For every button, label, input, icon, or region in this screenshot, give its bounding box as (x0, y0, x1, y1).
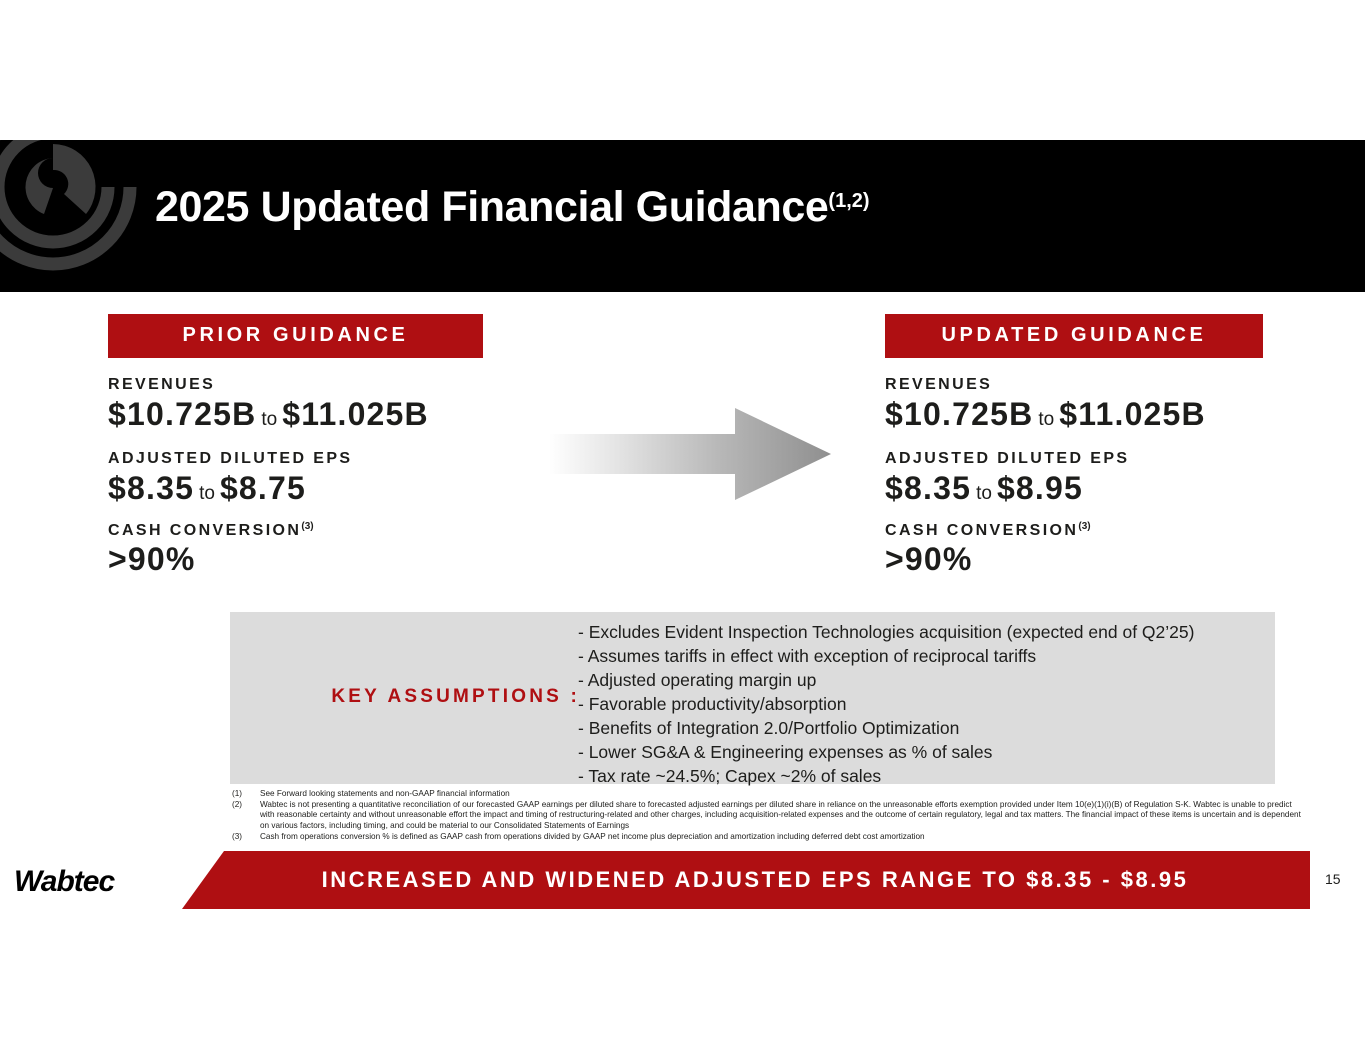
metric-value-high: $8.75 (220, 470, 306, 506)
prior-guidance-heading: PRIOR GUIDANCE (108, 314, 483, 358)
list-item: - Tax rate ~24.5%; Capex ~2% of sales (578, 764, 1268, 788)
wabtec-logo: Wabtec (12, 862, 162, 900)
metric-cash-conversion-prior: CASH CONVERSION(3) >90% (108, 521, 538, 578)
metric-adjusted-diluted-eps-prior: ADJUSTED DILUTED EPS $8.35to$8.75 (108, 450, 538, 506)
footnote-text: Cash from operations conversion % is def… (260, 832, 1307, 843)
metric-label-text: CASH CONVERSION (108, 522, 301, 539)
metric-revenues-prior: REVENUES $10.725Bto$11.025B (108, 376, 538, 432)
page-number: 15 (1325, 871, 1341, 887)
metric-value-low: $10.725B (108, 396, 256, 432)
wabtec-swirl-mark-icon (0, 140, 148, 282)
prior-guidance-column: PRIOR GUIDANCE REVENUES $10.725Bto$11.02… (108, 314, 538, 578)
footnote-number: (1) (232, 789, 260, 800)
metric-connector: to (256, 409, 282, 430)
page-title: 2025 Updated Financial Guidance(1,2) (155, 186, 870, 229)
footnote-number: (2) (232, 800, 260, 832)
key-assumptions-label: KEY ASSUMPTIONS : (250, 686, 580, 708)
metric-cash-conversion-updated: CASH CONVERSION(3) >90% (885, 521, 1315, 578)
metric-value-high: $11.025B (282, 396, 429, 432)
list-item: - Adjusted operating margin up (578, 668, 1268, 692)
metric-label-text: CASH CONVERSION (885, 522, 1078, 539)
metric-label: ADJUSTED DILUTED EPS (885, 450, 1315, 468)
footnote-3: (3) Cash from operations conversion % is… (232, 832, 1307, 843)
metric-value: $10.725Bto$11.025B (885, 396, 1315, 433)
footnote-number: (3) (232, 832, 260, 843)
metric-value: $8.35to$8.75 (108, 470, 538, 507)
updated-guidance-column: UPDATED GUIDANCE REVENUES $10.725Bto$11.… (885, 314, 1315, 578)
metric-label: REVENUES (885, 376, 1315, 394)
list-item: - Favorable productivity/absorption (578, 692, 1268, 716)
footnotes: (1) See Forward looking statements and n… (232, 789, 1307, 843)
key-assumptions-list: - Excludes Evident Inspection Technologi… (578, 620, 1268, 788)
transition-arrow (549, 408, 831, 500)
metric-label-footnote: (3) (301, 521, 313, 532)
metric-value-high: $11.025B (1059, 396, 1206, 432)
metric-label: ADJUSTED DILUTED EPS (108, 450, 538, 468)
metric-label: CASH CONVERSION(3) (108, 521, 538, 540)
footnote-text: Wabtec is not presenting a quantitative … (260, 800, 1307, 832)
metric-value-low: >90% (108, 541, 196, 577)
wabtec-logo-text: Wabtec (14, 865, 115, 898)
list-item: - Excludes Evident Inspection Technologi… (578, 620, 1268, 644)
page-title-text: 2025 Updated Financial Guidance (155, 183, 828, 231)
metric-connector: to (194, 483, 220, 504)
metric-value: $8.35to$8.95 (885, 470, 1315, 507)
list-item: - Benefits of Integration 2.0/Portfolio … (578, 716, 1268, 740)
page-title-superscript: (1,2) (828, 190, 869, 212)
right-arrow-gradient-icon (549, 408, 831, 500)
metric-label: REVENUES (108, 376, 538, 394)
key-assumptions-panel: KEY ASSUMPTIONS : - Excludes Evident Ins… (230, 612, 1275, 784)
metric-value-low: $8.35 (108, 470, 194, 506)
metric-value-low: >90% (885, 541, 973, 577)
metric-value: $10.725Bto$11.025B (108, 396, 538, 433)
metric-revenues-updated: REVENUES $10.725Bto$11.025B (885, 376, 1315, 432)
metric-value-high: $8.95 (997, 470, 1083, 506)
metric-value-low: $10.725B (885, 396, 1033, 432)
updated-guidance-heading: UPDATED GUIDANCE (885, 314, 1263, 358)
metric-connector: to (1033, 409, 1059, 430)
metric-connector: to (971, 483, 997, 504)
metric-value: >90% (108, 541, 538, 578)
bottom-banner-text: INCREASED AND WIDENED ADJUSTED EPS RANGE… (182, 851, 1310, 909)
list-item: - Assumes tariffs in effect with excepti… (578, 644, 1268, 668)
list-item: - Lower SG&A & Engineering expenses as %… (578, 740, 1268, 764)
metric-adjusted-diluted-eps-updated: ADJUSTED DILUTED EPS $8.35to$8.95 (885, 450, 1315, 506)
footnote-2: (2) Wabtec is not presenting a quantitat… (232, 800, 1307, 832)
bottom-banner: INCREASED AND WIDENED ADJUSTED EPS RANGE… (182, 851, 1310, 909)
metric-value-low: $8.35 (885, 470, 971, 506)
footnote-text: See Forward looking statements and non-G… (260, 789, 1307, 800)
footnote-1: (1) See Forward looking statements and n… (232, 789, 1307, 800)
metric-value: >90% (885, 541, 1315, 578)
metric-label: CASH CONVERSION(3) (885, 521, 1315, 540)
metric-label-footnote: (3) (1078, 521, 1090, 532)
